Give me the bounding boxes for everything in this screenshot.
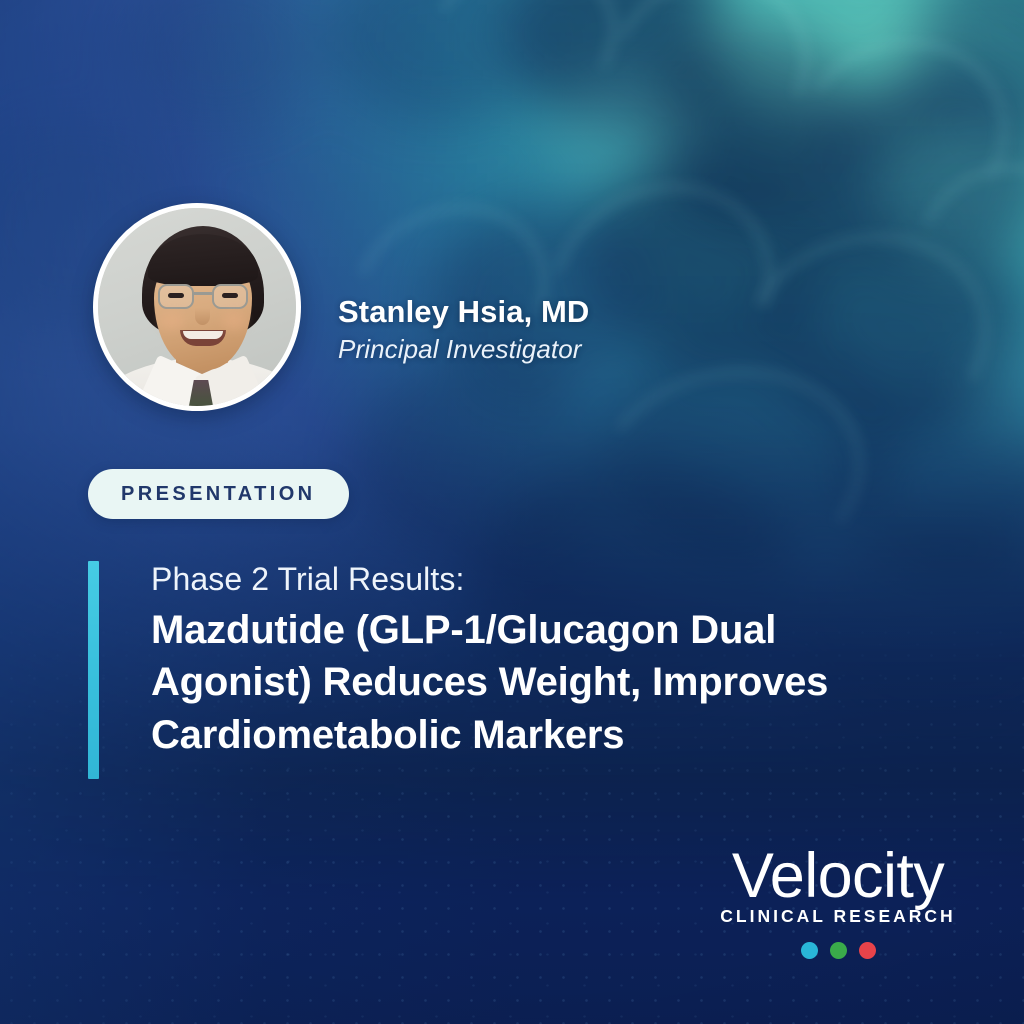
speaker-name: Stanley Hsia, MD	[338, 294, 589, 331]
speaker-info: Stanley Hsia, MD Principal Investigator	[338, 294, 589, 366]
accent-bar	[88, 561, 99, 779]
logo-dots	[712, 942, 964, 959]
portrait-eye-right	[222, 293, 238, 298]
portrait-glasses-bridge	[194, 292, 212, 295]
speaker-portrait	[98, 208, 296, 406]
page-title: Mazdutide (GLP-1/Glucagon Dual Agonist) …	[151, 604, 941, 761]
dot-red-icon	[859, 942, 876, 959]
title-eyebrow: Phase 2 Trial Results:	[151, 561, 941, 599]
portrait-eye-left	[168, 293, 184, 298]
dot-green-icon	[830, 942, 847, 959]
presentation-card: Stanley Hsia, MD Principal Investigator …	[0, 0, 1024, 1024]
portrait-cheek-left	[160, 312, 184, 330]
logo-wordmark: Velocity	[712, 846, 964, 906]
title-block: Phase 2 Trial Results: Mazdutide (GLP-1/…	[88, 561, 948, 779]
status-badge-label: PRESENTATION	[121, 484, 316, 504]
title-text-group: Phase 2 Trial Results: Mazdutide (GLP-1/…	[99, 561, 941, 779]
portrait-cheek-right	[222, 312, 246, 330]
avatar	[93, 203, 301, 411]
logo-tagline: CLINICAL RESEARCH	[712, 908, 964, 926]
dot-cyan-icon	[801, 942, 818, 959]
velocity-logo: Velocity CLINICAL RESEARCH	[712, 846, 964, 959]
speaker-role: Principal Investigator	[338, 333, 589, 367]
portrait-nose	[195, 308, 210, 325]
status-badge: PRESENTATION	[88, 469, 349, 519]
